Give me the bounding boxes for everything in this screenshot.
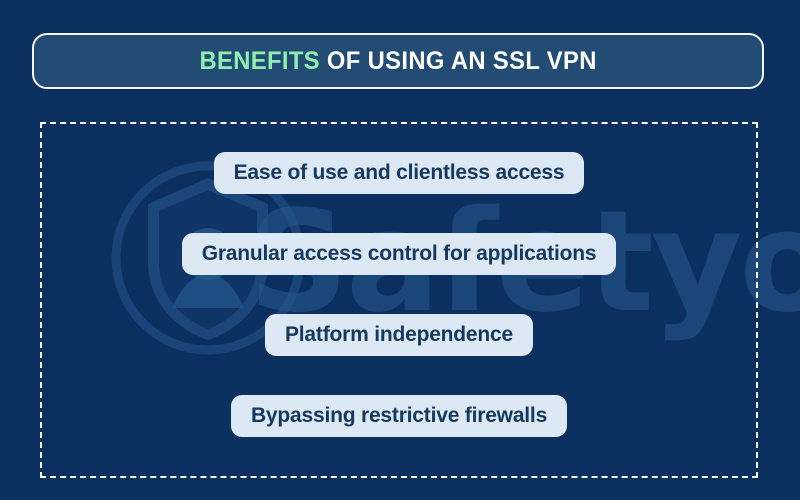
page-title: BENEFITS OF USING AN SSL VPN [199,47,596,76]
page-title-rest: OF USING AN SSL VPN [320,47,597,75]
infographic-canvas: Safetyo BENEFITS OF USING AN SSL VPN Eas… [0,0,800,500]
list-item: Granular access control for applications [182,233,617,275]
benefits-list: Ease of use and clientless access Granul… [40,122,758,478]
list-item: Bypassing restrictive firewalls [231,395,567,437]
list-item: Ease of use and clientless access [214,152,585,194]
page-title-highlight: BENEFITS [199,47,319,75]
list-item: Platform independence [265,314,533,356]
page-title-box: BENEFITS OF USING AN SSL VPN [32,33,764,89]
